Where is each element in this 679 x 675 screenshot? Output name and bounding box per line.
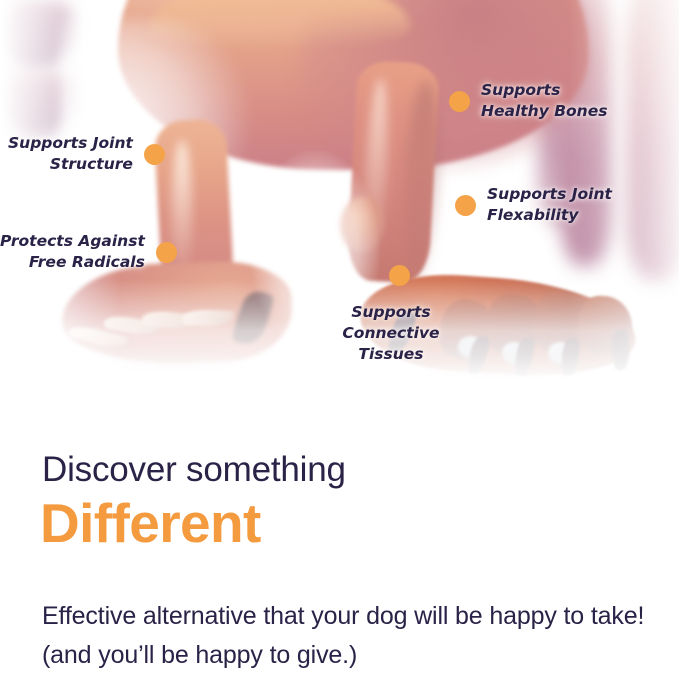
callout-supports-joint-flexability: Supports Joint Flexability <box>455 184 612 226</box>
callout-dot-icon <box>156 242 177 263</box>
callout-label: Supports Healthy Bones <box>481 80 607 122</box>
marketing-copy-block: Discover something Different Effective a… <box>0 400 679 672</box>
callout-supports-connective-tissues: Supports Connective Tissues <box>296 265 486 365</box>
callout-dot-icon <box>144 144 165 165</box>
callout-supports-joint-structure: Supports Joint Structure <box>8 133 165 175</box>
callout-dot-icon <box>455 195 476 216</box>
headline-primary: Discover something <box>42 450 346 490</box>
callout-label: Supports Connective Tissues <box>342 302 439 365</box>
subheadline-text: Effective alternative that your dog will… <box>42 597 652 675</box>
callout-supports-healthy-bones: Supports Healthy Bones <box>449 80 607 122</box>
headline-emphasis: Different <box>40 492 261 554</box>
callout-label: Supports Joint Structure <box>8 133 133 175</box>
callout-dot-icon <box>389 265 410 286</box>
callout-dot-icon <box>449 91 470 112</box>
product-hero-photo: Supports Joint Structure Protects Agains… <box>0 0 679 400</box>
callout-protects-against-free-radicals: Protects Against Free Radicals <box>0 231 177 273</box>
callout-label: Supports Joint Flexability <box>487 184 612 226</box>
callout-label: Protects Against Free Radicals <box>0 231 145 273</box>
